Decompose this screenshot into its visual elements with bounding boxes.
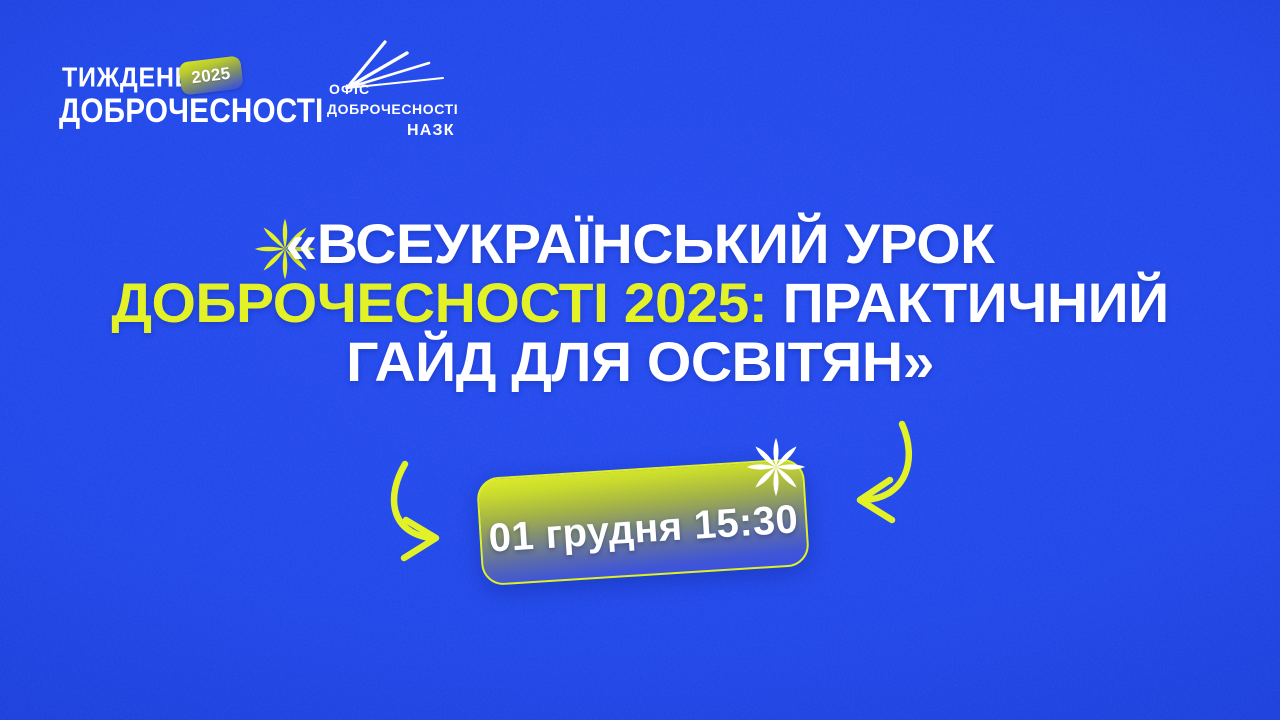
logo-integrity-week: ТИЖДЕНЬ 2025 ДОБРОЧЕСНОСТІ [58, 62, 318, 134]
event-title-card: ТИЖДЕНЬ 2025 ДОБРОЧЕСНОСТІ ОФІС ДОБРОЧЕС… [0, 0, 1280, 720]
logo-integrity-office-nazk: ОФІС ДОБРОЧЕСНОСТІ НАЗК [325, 40, 490, 138]
page-title: «ВСЕУКРАЇНСЬКИЙ УРОК ДОБРОЧЕСНОСТІ 2025:… [0, 214, 1280, 391]
headline-line-2: ДОБРОЧЕСНОСТІ 2025: ПРАКТИЧНИЙ [0, 273, 1280, 332]
event-date-label: 01 грудня 15:30 [487, 497, 799, 561]
headline-line-1: «ВСЕУКРАЇНСЬКИЙ УРОК [0, 214, 1280, 273]
headline-line2-highlight: ДОБРОЧЕСНОСТІ 2025: [111, 271, 767, 334]
asterisk-star-icon [745, 436, 807, 498]
logo-week-line1: ТИЖДЕНЬ [62, 64, 193, 92]
headline-line2-text: ПРАКТИЧНИЙ [767, 271, 1168, 334]
logo-office-line1: ОФІС [329, 82, 370, 96]
headline-line1-text: «ВСЕУКРАЇНСЬКИЙ УРОК [285, 212, 994, 275]
headline-line-3: ГАЙД ДЛЯ ОСВІТЯН» [0, 332, 1280, 391]
logo-office-line3: НАЗК [407, 123, 455, 139]
curved-arrow-left-icon [806, 420, 926, 542]
logo-week-year-label: 2025 [190, 63, 231, 88]
logo-week-year-badge: 2025 [178, 55, 244, 95]
logo-office-line2: ДОБРОЧЕСНОСТІ [327, 102, 458, 116]
logo-week-line2: ДОБРОЧЕСНОСТІ [59, 95, 323, 129]
headline-line3-text: ГАЙД ДЛЯ ОСВІТЯН» [346, 330, 934, 393]
